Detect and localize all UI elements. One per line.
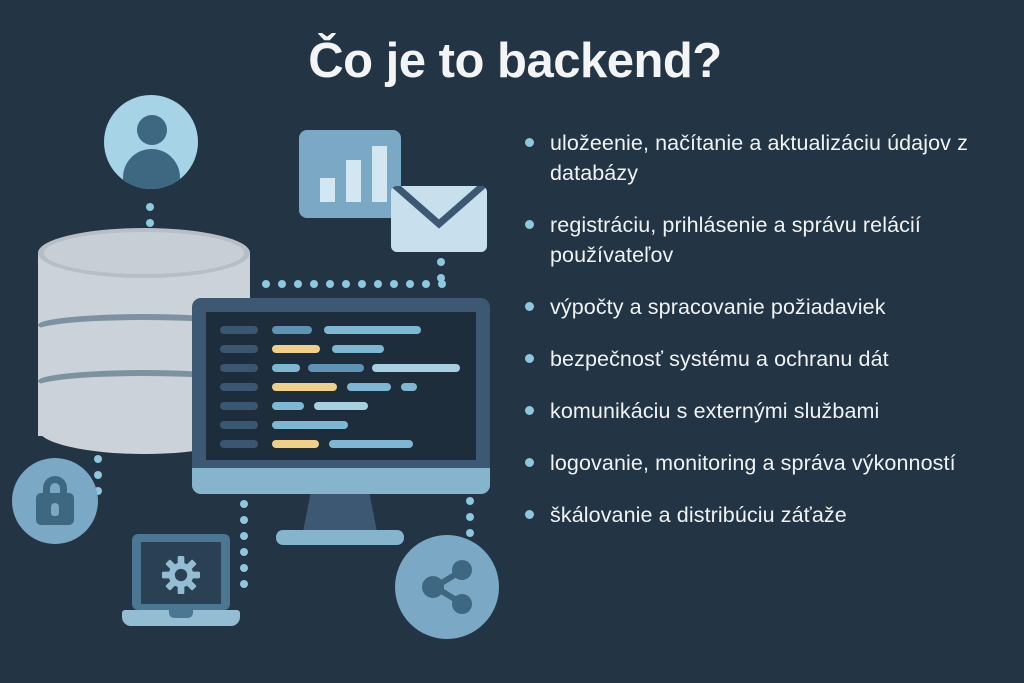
connector-dot: [94, 471, 102, 479]
connector-dot: [94, 455, 102, 463]
connector-dot: [437, 258, 445, 266]
list-item-label: výpočty a spracovanie požiadaviek: [550, 295, 886, 319]
feature-bullet-list: uložeenie, načítanie a aktualizáciu údaj…: [520, 128, 990, 552]
share-nodes-icon: [395, 535, 499, 639]
code-segment: [272, 383, 337, 391]
code-gutter-bar: [220, 383, 258, 391]
envelope-icon: [391, 186, 487, 252]
list-item-label: komunikáciu s externými službami: [550, 399, 879, 423]
list-item: uložeenie, načítanie a aktualizáciu údaj…: [520, 128, 990, 188]
list-item: registráciu, prihlásenie a správu reláci…: [520, 210, 990, 270]
connector-dot: [438, 280, 446, 288]
connector-dot: [240, 564, 248, 572]
connector-dot: [390, 280, 398, 288]
list-item: logovanie, monitoring a správa výkonnost…: [520, 448, 990, 478]
laptop-gear-icon: [122, 534, 240, 634]
code-segment: [272, 326, 312, 334]
bullet-dot-icon: [525, 458, 534, 467]
list-item-label: logovanie, monitoring a správa výkonnost…: [550, 451, 956, 475]
bullet-dot-icon: [525, 406, 534, 415]
chart-bar: [372, 146, 387, 202]
laptop-notch: [169, 610, 193, 618]
infographic-canvas: Čo je to backend?: [0, 0, 1024, 683]
bar-chart-icon: [299, 130, 401, 218]
monitor-stand-neck: [303, 494, 377, 532]
list-item: škálovanie a distribúciu záťaže: [520, 500, 990, 530]
code-segment: [347, 383, 391, 391]
avatar-body-shape: [123, 149, 180, 189]
user-avatar-icon: [104, 95, 198, 189]
list-item: komunikáciu s externými službami: [520, 396, 990, 426]
code-segment: [332, 345, 384, 353]
code-segment: [272, 440, 319, 448]
connector-dot: [240, 500, 248, 508]
connector-dot: [326, 280, 334, 288]
connector-dot: [240, 548, 248, 556]
connector-dot: [310, 280, 318, 288]
code-segment: [329, 440, 413, 448]
bullet-dot-icon: [525, 510, 534, 519]
code-segment: [324, 326, 421, 334]
code-segment: [401, 383, 417, 391]
chart-bar: [346, 160, 361, 202]
code-segment: [314, 402, 368, 410]
connector-dot: [406, 280, 414, 288]
monitor-screen: [206, 312, 476, 460]
code-gutter-bar: [220, 440, 258, 448]
connector-dot: [240, 532, 248, 540]
list-item: bezpečnosť systému a ochranu dát: [520, 344, 990, 374]
code-segment: [272, 364, 300, 372]
code-gutter-bar: [220, 402, 258, 410]
chart-bar: [320, 178, 335, 202]
monitor-stand-base: [276, 530, 404, 545]
connector-dot: [146, 219, 154, 227]
code-gutter-bar: [220, 345, 258, 353]
envelope-flap-shape: [391, 186, 487, 232]
code-gutter-bar: [220, 364, 258, 372]
lock-icon: [12, 458, 98, 544]
connector-dot: [294, 280, 302, 288]
code-segment: [308, 364, 364, 372]
avatar-head-shape: [137, 115, 167, 145]
connector-dot: [278, 280, 286, 288]
list-item-label: uložeenie, načítanie a aktualizáciu údaj…: [550, 131, 968, 185]
connector-dot: [374, 280, 382, 288]
connector-dot: [422, 280, 430, 288]
code-segment: [272, 402, 304, 410]
list-item-label: registráciu, prihlásenie a správu reláci…: [550, 213, 921, 267]
page-title: Čo je to backend?: [250, 36, 780, 87]
code-segment: [272, 421, 348, 429]
code-segment: [272, 345, 320, 353]
list-item: výpočty a spracovanie požiadaviek: [520, 292, 990, 322]
list-item-label: škálovanie a distribúciu záťaže: [550, 503, 847, 527]
bullet-dot-icon: [525, 354, 534, 363]
connector-dot: [262, 280, 270, 288]
code-gutter-bar: [220, 421, 258, 429]
connector-dot: [358, 280, 366, 288]
gear-icon: [162, 556, 200, 594]
connector-dot: [146, 203, 154, 211]
lock-keyhole-shape: [51, 503, 59, 516]
connector-dot: [342, 280, 350, 288]
bullet-dot-icon: [525, 220, 534, 229]
monitor-code-icon: [192, 298, 490, 494]
share-glyph-shape: [417, 557, 477, 617]
connector-dot: [240, 580, 248, 588]
connector-dot: [466, 497, 474, 505]
monitor-chin: [192, 468, 490, 494]
bullet-dot-icon: [525, 138, 534, 147]
database-top-inner: [44, 232, 244, 274]
connector-dot: [466, 513, 474, 521]
list-item-label: bezpečnosť systému a ochranu dát: [550, 347, 889, 371]
code-gutter-bar: [220, 326, 258, 334]
connector-dot: [466, 529, 474, 537]
connector-dot: [240, 516, 248, 524]
code-segment: [372, 364, 460, 372]
bullet-dot-icon: [525, 302, 534, 311]
